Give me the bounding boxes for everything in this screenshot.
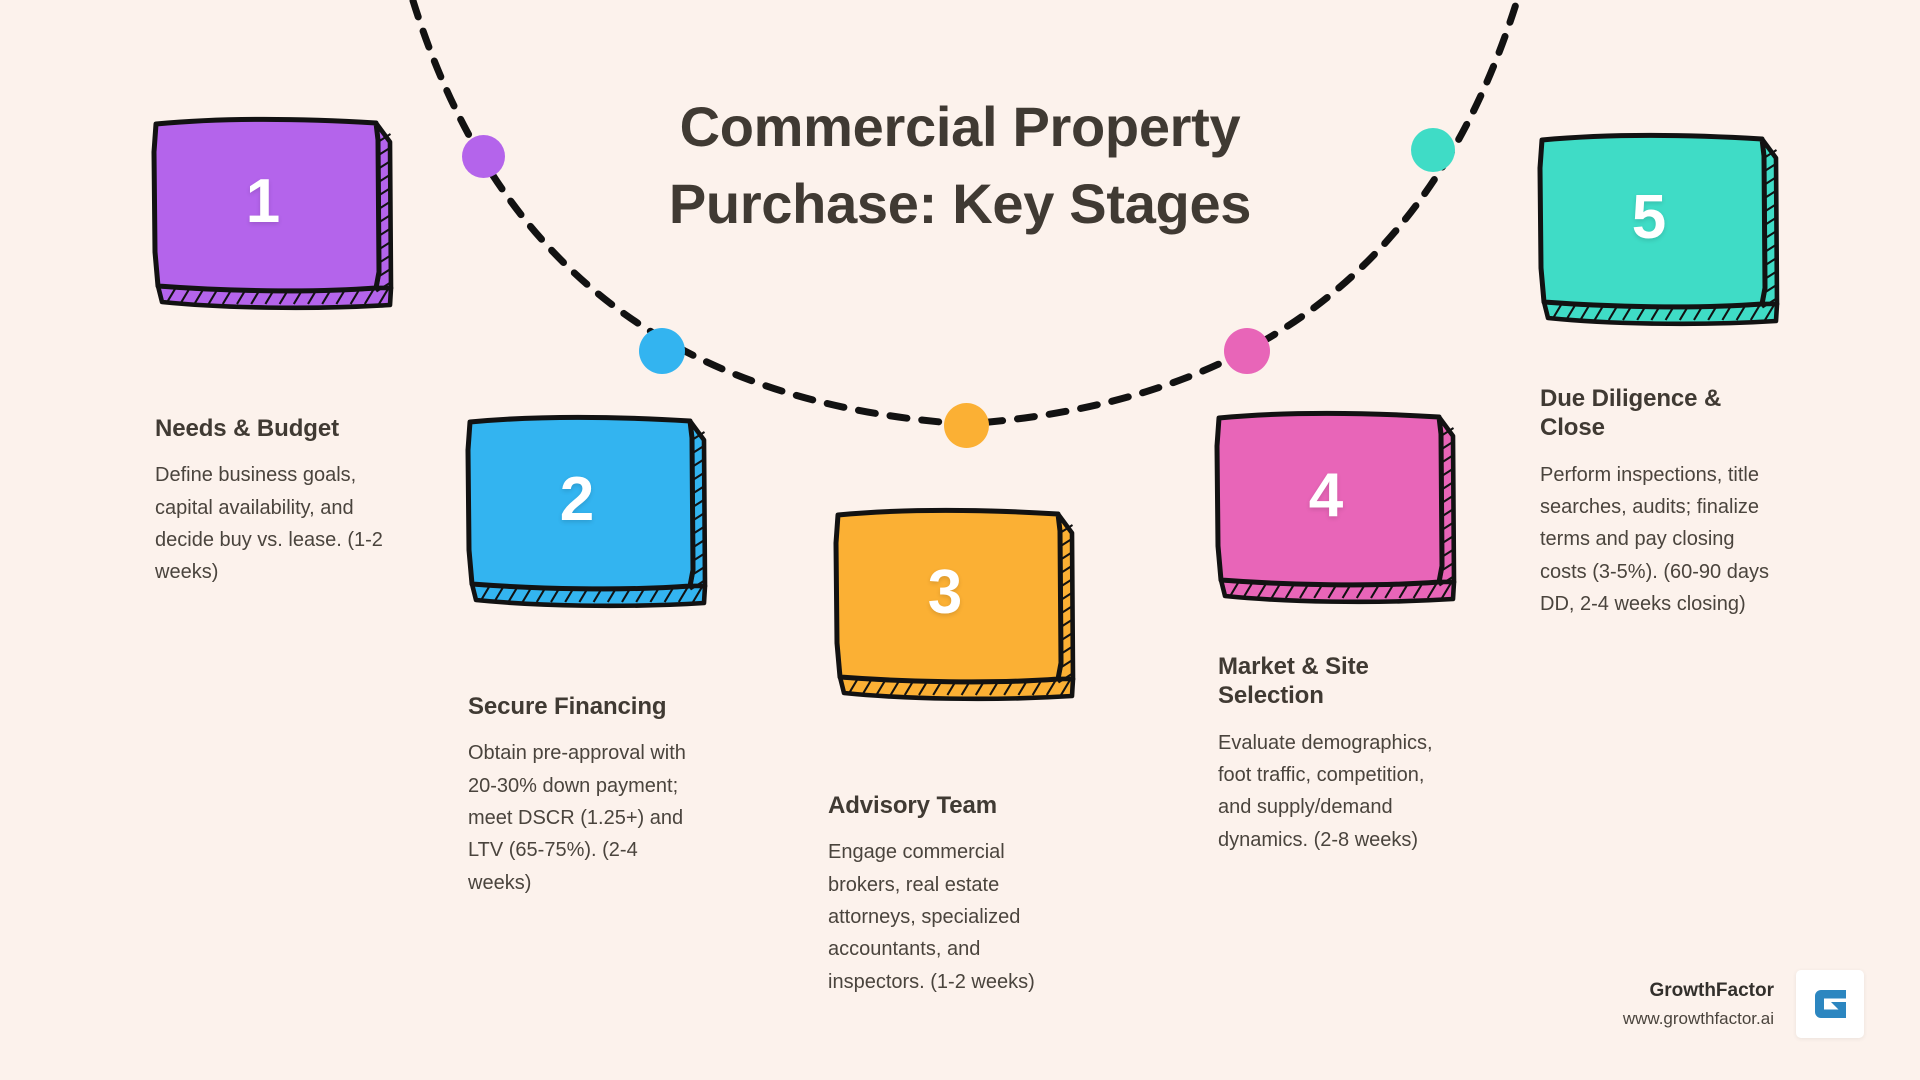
stage-heading-1: Needs & Budget	[155, 414, 393, 443]
page-title: Commercial Property Purchase: Key Stages	[560, 88, 1360, 243]
stage-body-2: Obtain pre-approval with 20-30% down pay…	[468, 737, 706, 899]
stage-text-block-1: Needs & BudgetDefine business goals, cap…	[155, 414, 393, 589]
arc-dot-stage-5	[1411, 128, 1455, 172]
stage-body-5: Perform inspections, title searches, aud…	[1540, 459, 1778, 621]
brand-text: GrowthFactor www.growthfactor.ai	[1623, 977, 1774, 1031]
stage-text-block-3: Advisory TeamEngage commercial brokers, …	[828, 791, 1066, 998]
growthfactor-g-logo-icon	[1796, 970, 1864, 1038]
brand-url[interactable]: www.growthfactor.ai	[1623, 1006, 1774, 1032]
arc-dot-stage-2	[639, 328, 685, 374]
stage-text-block-5: Due Diligence & ClosePerform inspections…	[1540, 384, 1778, 620]
arc-dot-stage-1	[462, 135, 505, 178]
title-line-2: Purchase: Key Stages	[560, 165, 1360, 242]
stage-heading-5: Due Diligence & Close	[1540, 384, 1778, 443]
stage-card-5[interactable]: 5	[1536, 128, 1780, 324]
stage-heading-3: Advisory Team	[828, 791, 1066, 820]
arc-dot-stage-3	[944, 403, 989, 448]
stage-card-2[interactable]: 2	[464, 410, 708, 606]
stage-body-1: Define business goals, capital availabil…	[155, 459, 393, 589]
infographic-canvas: Commercial Property Purchase: Key Stages…	[0, 0, 1920, 1080]
stage-text-block-2: Secure FinancingObtain pre-approval with…	[468, 692, 706, 899]
title-line-1: Commercial Property	[560, 88, 1360, 165]
brand-name: GrowthFactor	[1623, 977, 1774, 1006]
stage-card-1[interactable]: 1	[150, 112, 394, 308]
stage-heading-2: Secure Financing	[468, 692, 706, 721]
brand-footer: GrowthFactor www.growthfactor.ai	[1623, 970, 1864, 1038]
arc-dot-stage-4	[1224, 328, 1270, 374]
stage-card-3[interactable]: 3	[832, 503, 1076, 699]
stage-text-block-4: Market & Site SelectionEvaluate demograp…	[1218, 652, 1456, 856]
stage-body-4: Evaluate demographics, foot traffic, com…	[1218, 727, 1456, 857]
stage-card-4[interactable]: 4	[1213, 406, 1457, 602]
stage-heading-4: Market & Site Selection	[1218, 652, 1456, 711]
stage-body-3: Engage commercial brokers, real estate a…	[828, 836, 1066, 998]
